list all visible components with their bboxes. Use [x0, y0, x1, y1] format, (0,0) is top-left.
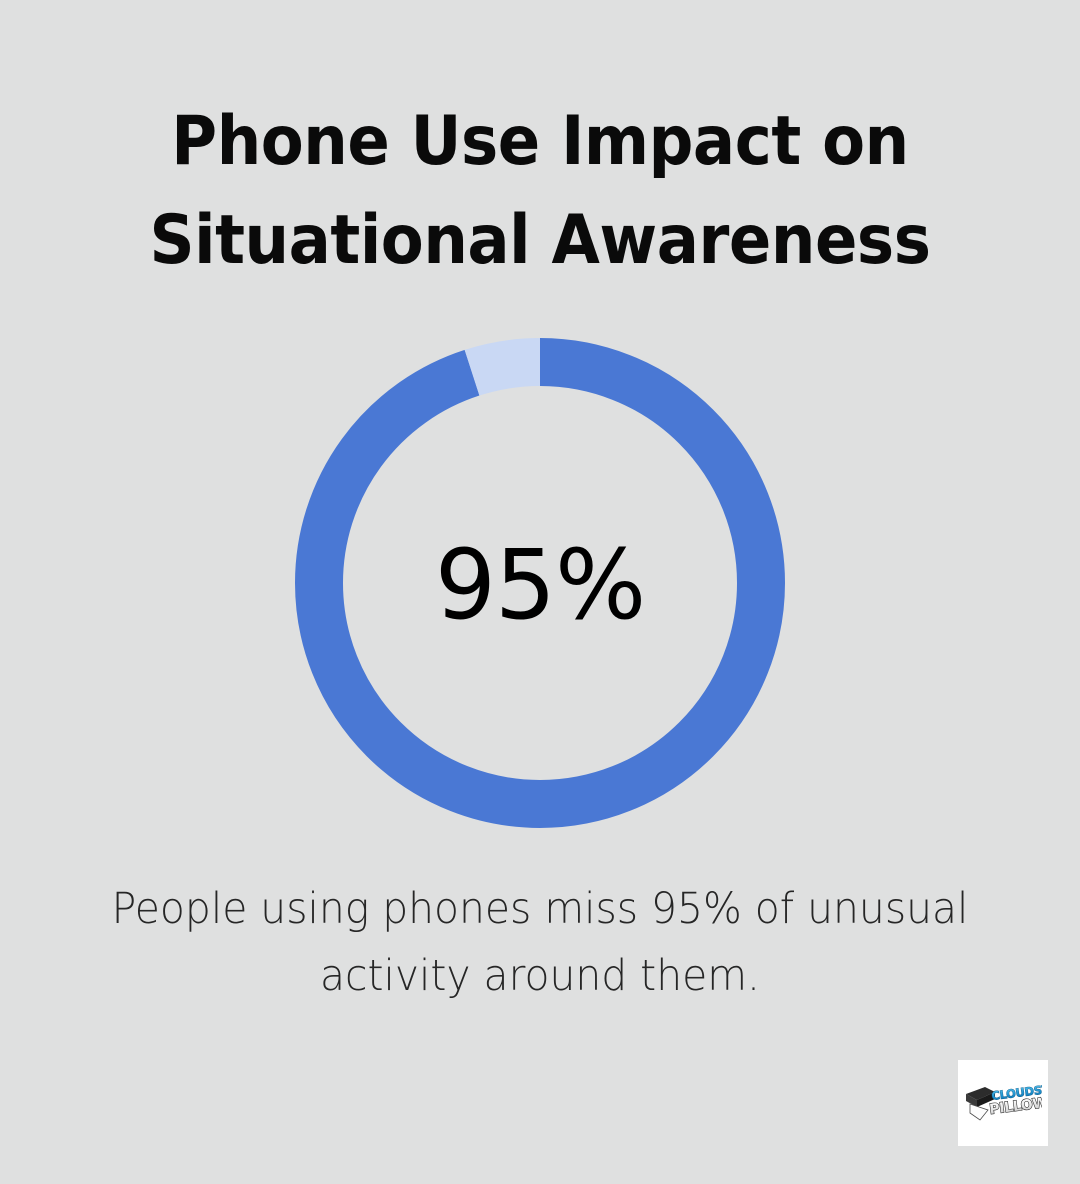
title-line-1: Phone Use Impact on — [43, 92, 1037, 191]
page-title: Phone Use Impact on Situational Awarenes… — [0, 92, 1080, 291]
brand-logo: CLOUDSTER PILLOW — [958, 1060, 1048, 1146]
cloudster-pillow-logo-svg: CLOUDSTER PILLOW — [964, 1080, 1042, 1126]
donut-chart-svg — [295, 338, 785, 828]
donut-segment-missed — [319, 362, 761, 804]
title-line-2: Situational Awareness — [43, 191, 1037, 290]
caption-line-1: People using phones miss 95% of unusual — [94, 876, 987, 943]
donut-chart: 95% — [295, 338, 785, 828]
caption-line-2: activity around them. — [94, 943, 987, 1010]
caption: People using phones miss 95% of unusual … — [70, 876, 1010, 1009]
infographic-canvas: Phone Use Impact on Situational Awarenes… — [0, 0, 1080, 1184]
